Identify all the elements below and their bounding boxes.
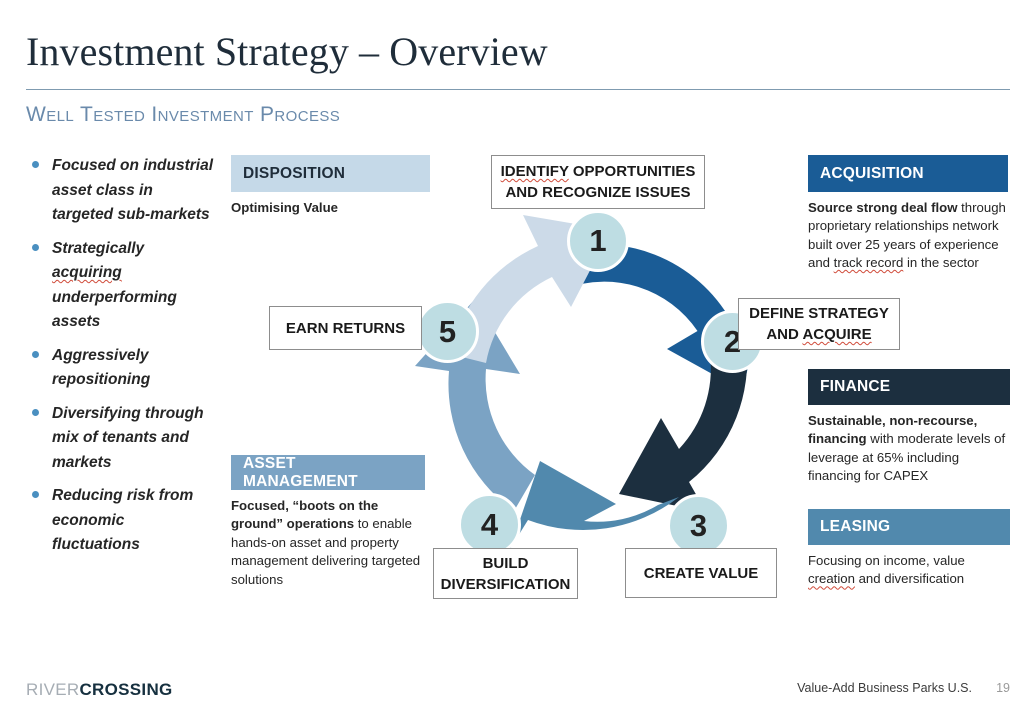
step-label-text: AND RECOGNIZE ISSUES: [501, 182, 696, 203]
step-label-text: BUILD: [441, 553, 571, 574]
title-divider: [26, 89, 1010, 90]
callout-body: Focusing on income, value creation and d…: [808, 545, 1010, 589]
bullet-text-tail: underperforming assets: [52, 289, 177, 331]
callout-header-bar: FINANCE: [808, 369, 1010, 405]
callout-body: Sustainable, non-recourse, financing wit…: [808, 405, 1010, 486]
step-label-text: DIVERSIFICATION: [441, 574, 571, 595]
step-label-identify: IDENTIFY OPPORTUNITIES AND RECOGNIZE ISS…: [491, 155, 705, 209]
logo-text-river: RIVER: [26, 680, 79, 699]
step-label-text: OPPORTUNITIES: [569, 163, 696, 180]
bullet-dot-icon: [32, 244, 39, 251]
callout-leasing: LEASING Focusing on income, value creati…: [808, 509, 1010, 589]
step-label-text: AND: [766, 326, 802, 343]
page-title: Investment Strategy – Overview: [26, 28, 548, 75]
callout-body-text: Focusing on income, value: [808, 553, 965, 568]
bullet-text: Strategically: [52, 240, 144, 257]
callout-body-bold: Source strong deal flow: [808, 200, 957, 215]
list-item: Diversifying through mix of tenants and …: [26, 402, 216, 476]
callout-body: Source strong deal flow through propriet…: [808, 192, 1010, 273]
page-number: 19: [996, 681, 1010, 695]
bullet-dot-icon: [32, 161, 39, 168]
callout-finance: FINANCE Sustainable, non-recourse, finan…: [808, 369, 1010, 486]
step-label-earn-returns: EARN RETURNS: [269, 306, 422, 350]
list-item: Aggressively repositioning: [26, 344, 216, 393]
list-item: Reducing risk from economic fluctuations: [26, 484, 216, 558]
callout-body-tail: in the sector: [903, 255, 979, 270]
page-subtitle: Well Tested Investment Process: [26, 103, 340, 127]
bullet-text: Diversifying through mix of tenants and …: [52, 405, 204, 471]
callout-body-tail: and diversification: [855, 571, 964, 586]
list-item: Strategically acquiring underperforming …: [26, 237, 216, 335]
bullet-dot-icon: [32, 409, 39, 416]
cycle-node-number: 1: [589, 223, 606, 259]
cycle-node-5: 5: [416, 300, 479, 363]
cycle-node-1: 1: [567, 210, 629, 272]
cycle-node-number: 4: [481, 507, 498, 543]
callout-header-bar: DISPOSITION: [231, 155, 430, 192]
cycle-node-number: 5: [439, 314, 456, 350]
bullet-dot-icon: [32, 491, 39, 498]
list-item: Focused on industrial asset class in tar…: [26, 154, 216, 228]
bullet-text: Aggressively repositioning: [52, 347, 150, 389]
misspelled-word: acquiring: [52, 264, 122, 281]
slide: Investment Strategy – Overview Well Test…: [0, 0, 1032, 714]
callout-title: ASSET MANAGEMENT: [243, 455, 413, 491]
misspelled-word: ACQUIRE: [802, 326, 871, 343]
company-logo: RIVERCROSSING: [26, 680, 173, 700]
callout-header-bar: LEASING: [808, 509, 1010, 545]
callout-body-bold: Optimising Value: [231, 200, 338, 215]
footer-note: Value-Add Business Parks U.S.: [797, 681, 972, 695]
callout-title: FINANCE: [820, 378, 890, 396]
step-label-text: EARN RETURNS: [286, 318, 405, 339]
callout-title: LEASING: [820, 518, 890, 536]
step-label-text: DEFINE STRATEGY: [749, 303, 889, 324]
step-label-build-diversification: BUILD DIVERSIFICATION: [433, 548, 578, 599]
logo-text-crossing: CROSSING: [79, 680, 172, 699]
strategy-bullet-list: Focused on industrial asset class in tar…: [26, 154, 216, 567]
misspelled-word: creation: [808, 571, 855, 586]
misspelled-word: track record: [834, 255, 904, 270]
cycle-node-4: 4: [458, 493, 521, 556]
bullet-text: Focused on industrial asset class in tar…: [52, 157, 213, 223]
cycle-node-number: 3: [690, 508, 707, 544]
investment-process-cycle-diagram: 1 2 3 4 5: [390, 196, 810, 596]
step-label-define-strategy: DEFINE STRATEGY AND ACQUIRE: [738, 298, 900, 350]
step-label-create-value: CREATE VALUE: [625, 548, 777, 598]
callout-title: DISPOSITION: [243, 165, 345, 183]
misspelled-word: IDENTIFY: [501, 163, 569, 180]
callout-header-bar: ACQUISITION: [808, 155, 1008, 192]
bullet-text: Reducing risk from economic fluctuations: [52, 487, 193, 553]
callout-title: ACQUISITION: [820, 165, 924, 183]
callout-acquisition: ACQUISITION Source strong deal flow thro…: [808, 155, 1008, 273]
step-label-text: CREATE VALUE: [644, 563, 758, 584]
bullet-dot-icon: [32, 351, 39, 358]
